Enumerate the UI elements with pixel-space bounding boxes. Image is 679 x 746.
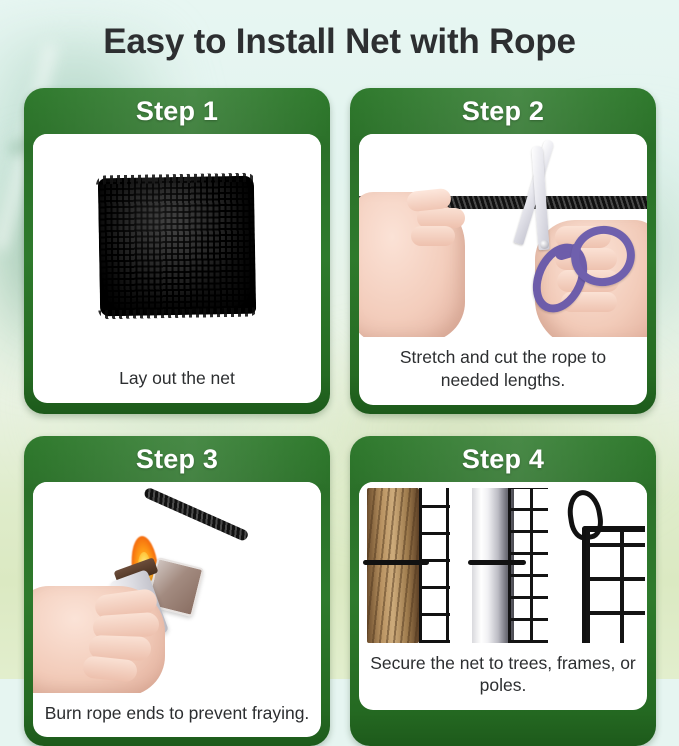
left-hand-finger-1 [417, 208, 465, 228]
net-mesh-icon [508, 488, 547, 643]
net-panel-pole [508, 488, 547, 643]
step-4-subimages [359, 488, 647, 643]
cable-tie-icon [363, 560, 429, 565]
net-panel-tree [419, 488, 450, 643]
step-3-panel: Burn rope ends to prevent fraying. [33, 482, 321, 738]
scissors-pivot-screw [540, 240, 549, 249]
step-4-header: Step 4 [350, 436, 656, 482]
step-1-illustration [33, 134, 321, 358]
net-mesh-icon [419, 488, 450, 643]
net-mesh-icon [586, 530, 645, 643]
left-hand-finger-2 [411, 226, 455, 246]
step-card-2: Step 2 [350, 88, 656, 414]
net-tied-to-metal-pole [458, 488, 547, 643]
step-3-illustration [33, 482, 321, 693]
step-4-caption: Secure the net to trees, frames, or pole… [359, 643, 647, 711]
step-2-caption: Stretch and cut the rope to needed lengt… [359, 337, 647, 405]
step-card-1: Step 1 Lay out the net [24, 88, 330, 414]
cable-tie-icon [468, 560, 526, 565]
step-4-illustration [359, 482, 647, 643]
step-1-caption: Lay out the net [33, 358, 321, 403]
steps-row-2: Step 3 Burn rope ends to prevent fr [24, 436, 656, 746]
step-2-illustration [359, 134, 647, 337]
step-3-caption: Burn rope ends to prevent fraying. [33, 693, 321, 738]
net-corner-rope-loop [556, 488, 645, 643]
step-card-3: Step 3 Burn rope ends to prevent fr [24, 436, 330, 746]
step-2-panel: Stretch and cut the rope to needed lengt… [359, 134, 647, 405]
net-tied-to-tree-trunk [361, 488, 450, 643]
step-card-4: Step 4 [350, 436, 656, 746]
folded-black-mesh-net-icon [98, 176, 256, 317]
step-4-panel: Secure the net to trees, frames, or pole… [359, 482, 647, 711]
steps-grid: Step 1 Lay out the net Step 2 [24, 88, 656, 746]
step-1-panel: Lay out the net [33, 134, 321, 403]
rope-end-icon [143, 486, 250, 542]
step-1-header: Step 1 [24, 88, 330, 134]
step-3-header: Step 3 [24, 436, 330, 482]
tree-trunk-icon [367, 488, 419, 643]
steps-row-1: Step 1 Lay out the net Step 2 [24, 88, 656, 414]
page-title: Easy to Install Net with Rope [0, 22, 679, 62]
step-2-header: Step 2 [350, 88, 656, 134]
